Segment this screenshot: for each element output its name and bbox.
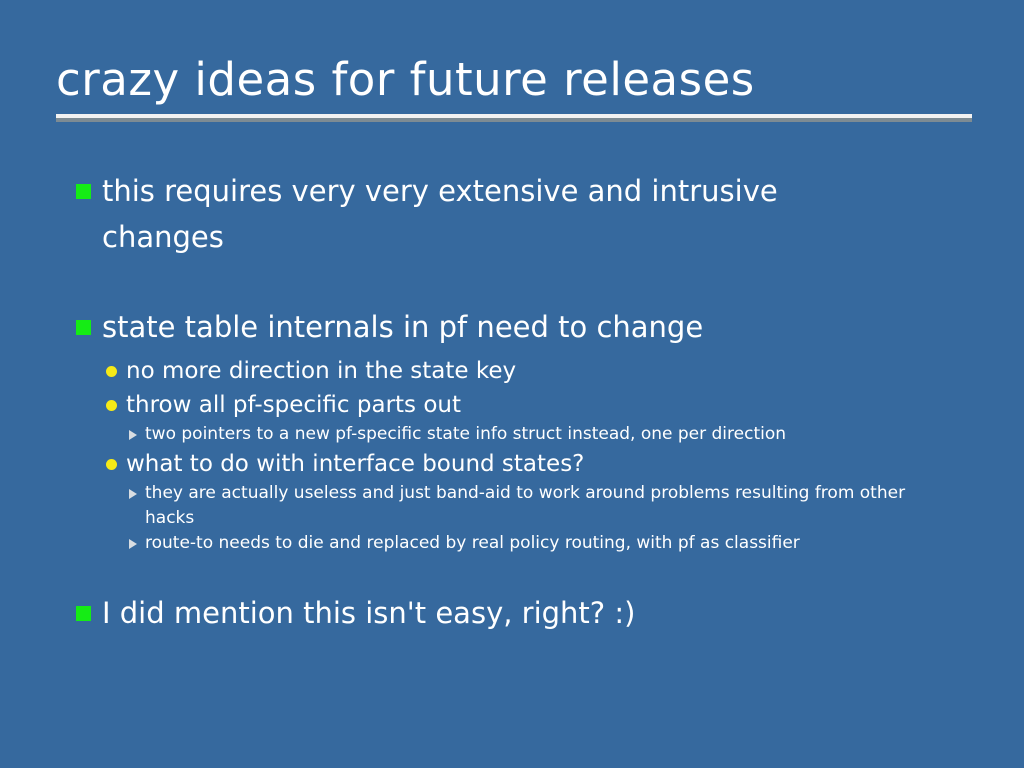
list-item-label: they are actually useless and just band-… (145, 481, 945, 531)
spacer (56, 264, 986, 304)
slide-title-block: crazy ideas for future releases (56, 52, 972, 122)
list-item-label: I did mention this isn't easy, right? :) (102, 590, 636, 636)
circle-bullet-icon (106, 459, 117, 470)
slide-body: this requires very very extensive and in… (56, 168, 986, 640)
list-item-label: what to do with interface bound states? (126, 447, 584, 481)
page-title: crazy ideas for future releases (56, 52, 972, 108)
presentation-slide: crazy ideas for future releases this req… (0, 0, 1024, 768)
list-item: two pointers to a new pf-specific state … (129, 422, 986, 447)
list-item-label: state table internals in pf need to chan… (102, 304, 703, 350)
square-bullet-icon (76, 606, 91, 621)
title-underline-rule (56, 114, 972, 122)
list-item: route-to needs to die and replaced by re… (129, 531, 986, 556)
triangle-bullet-icon (129, 430, 137, 440)
list-item: state table internals in pf need to chan… (76, 304, 986, 350)
list-item: what to do with interface bound states? (106, 447, 986, 481)
list-item-label: throw all pf-specific parts out (126, 388, 461, 422)
circle-bullet-icon (106, 366, 117, 377)
triangle-bullet-icon (129, 489, 137, 499)
list-item: no more direction in the state key (106, 354, 986, 388)
list-item: throw all pf-specific parts out (106, 388, 986, 422)
list-item: they are actually useless and just band-… (129, 481, 986, 531)
spacer (56, 556, 986, 590)
square-bullet-icon (76, 184, 91, 199)
list-item-label: no more direction in the state key (126, 354, 516, 388)
list-item: I did mention this isn't easy, right? :) (76, 590, 986, 636)
list-item-label: two pointers to a new pf-specific state … (145, 422, 786, 447)
square-bullet-icon (76, 320, 91, 335)
list-item-label: this requires very very extensive and in… (102, 168, 842, 260)
list-item-label: route-to needs to die and replaced by re… (145, 531, 800, 556)
triangle-bullet-icon (129, 539, 137, 549)
list-item: this requires very very extensive and in… (76, 168, 986, 260)
circle-bullet-icon (106, 400, 117, 411)
